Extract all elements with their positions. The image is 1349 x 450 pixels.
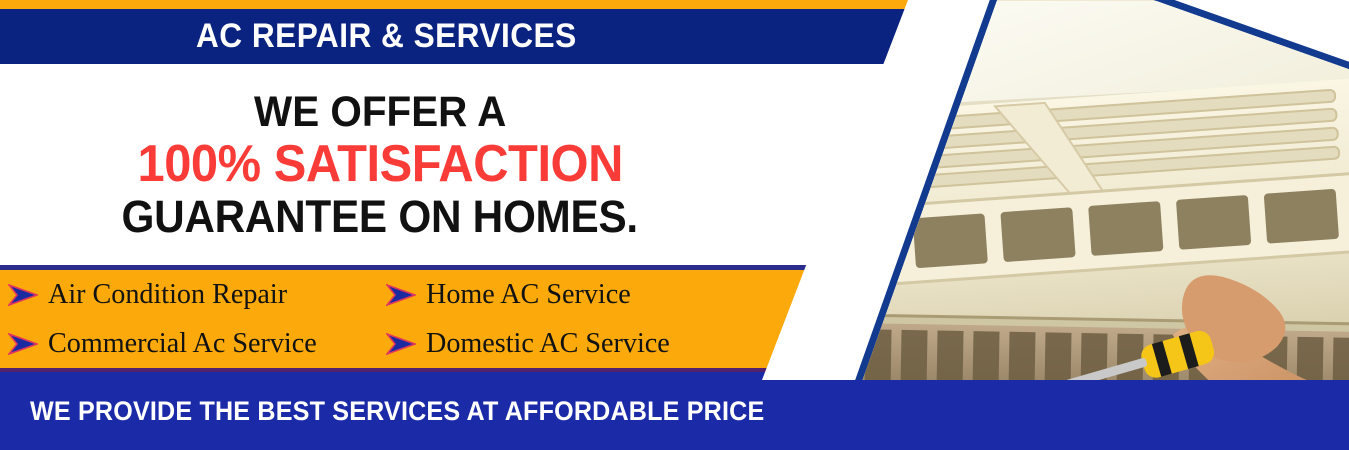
services-list: Air Condition Repair Home AC Service Com… xyxy=(0,270,770,368)
list-item[interactable]: Home AC Service xyxy=(372,278,770,311)
headline-line-3: GUARANTEE ON HOMES. xyxy=(122,194,638,239)
arrow-right-triangle-icon xyxy=(8,284,38,306)
service-label: Air Condition Repair xyxy=(48,278,287,311)
service-label: Commercial Ac Service xyxy=(48,327,317,360)
list-item[interactable]: Domestic AC Service xyxy=(372,327,770,360)
arrow-right-triangle-icon xyxy=(386,284,416,306)
headline-line-1: WE OFFER A xyxy=(254,91,506,134)
arrow-right-triangle-icon xyxy=(8,333,38,355)
service-label: Domestic AC Service xyxy=(426,327,670,360)
ac-repair-promo-banner: AC REPAIR & SERVICES WE OFFER A 100% SAT… xyxy=(0,0,1349,450)
list-item[interactable]: Commercial Ac Service xyxy=(0,327,372,360)
arrow-right-triangle-icon xyxy=(386,333,416,355)
page-title: AC REPAIR & SERVICES xyxy=(196,17,577,56)
service-label: Home AC Service xyxy=(426,278,631,311)
list-item[interactable]: Air Condition Repair xyxy=(0,278,372,311)
footer-tagline: WE PROVIDE THE BEST SERVICES AT AFFORDAB… xyxy=(30,396,764,427)
footer-bar: WE PROVIDE THE BEST SERVICES AT AFFORDAB… xyxy=(0,372,1349,450)
headline-line-2-highlight: 100% SATISFACTION xyxy=(137,138,622,190)
headline-block: WE OFFER A 100% SATISFACTION GUARANTEE O… xyxy=(0,64,760,265)
